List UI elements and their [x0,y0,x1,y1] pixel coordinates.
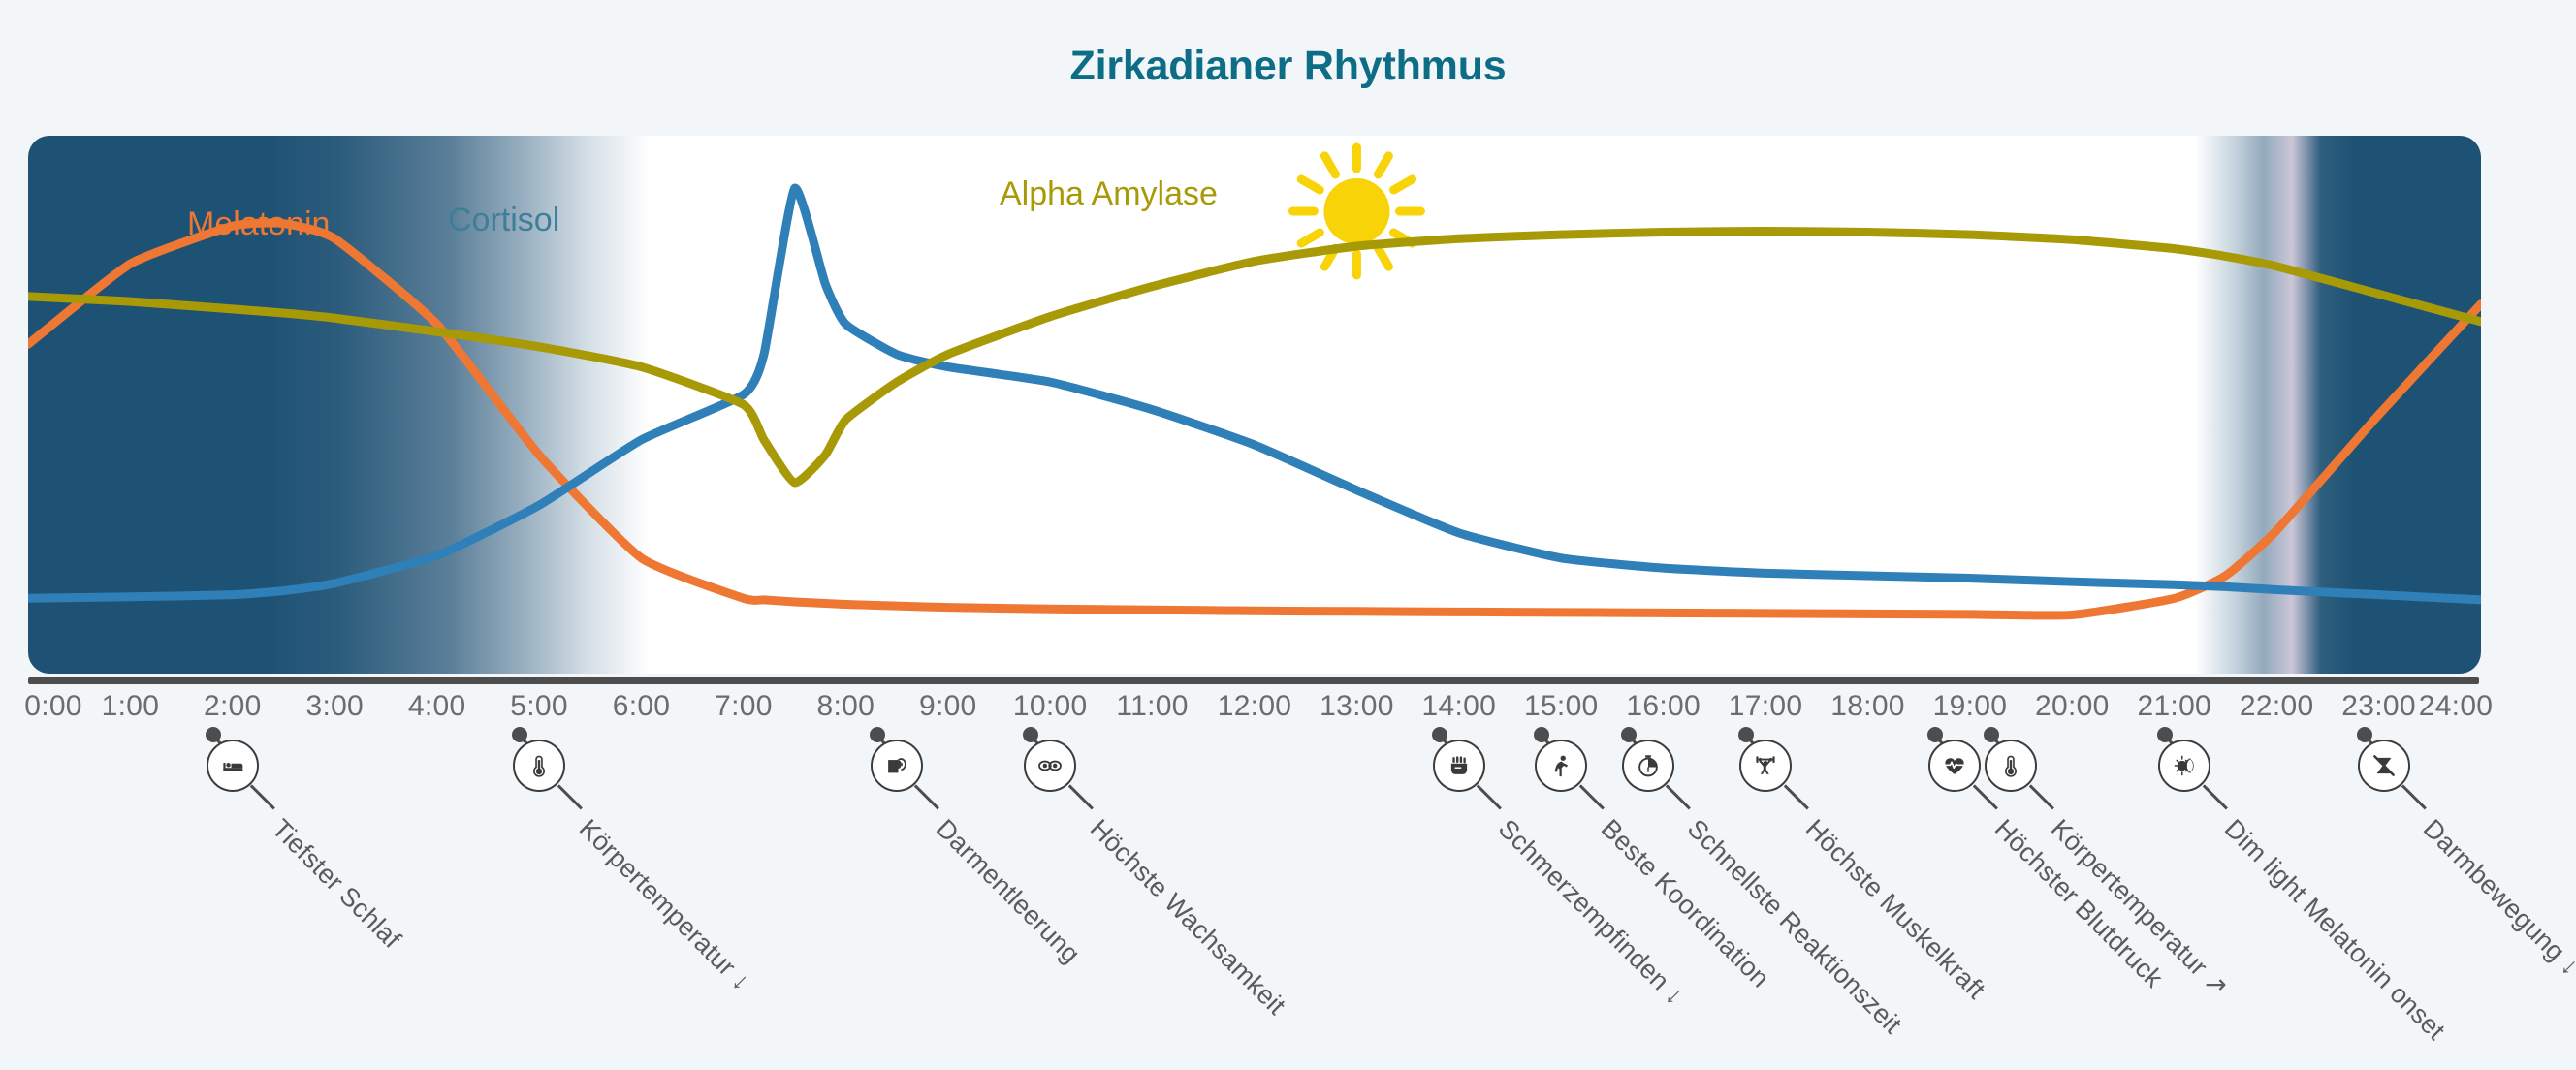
axis-tick-000: 0:00 [24,690,82,723]
annotation-icon-badge[interactable] [1985,740,2037,792]
annotation-dot [1927,727,1943,742]
axis-tick-900: 9:00 [919,690,977,723]
axis-tick-600: 6:00 [613,690,671,723]
annotation-label: Höchste Muskelkraft [1799,814,1991,1006]
annotation-stub-line [2164,735,2186,757]
annotation-icon-badge[interactable] [1928,740,1981,792]
annotation-dot [870,727,885,742]
no-toilet-icon [2372,754,2396,777]
annotation-stub-line [1934,735,1956,757]
annotation-label: Körpertemperatur ↗ [2045,814,2234,1003]
annotation-stub-line [1990,735,2013,757]
annotation-label: Darmentleerung [931,814,1087,970]
annotation-dot [2357,727,2372,742]
axis-tick-2100: 21:00 [2137,690,2211,723]
annotation-stub-line [519,735,541,757]
axis-tick-800: 8:00 [817,690,875,723]
annotation-label: Tiefster Schlaf [266,814,406,955]
curves-layer [28,136,2481,674]
annotation-leader-line [250,785,275,810]
plot-panel [28,136,2481,674]
cortisol-label: Cortisol [448,202,559,239]
annotation-dot [2157,727,2173,742]
axis-tick-1300: 13:00 [1320,690,1394,723]
annotation-label: Dim light Melatonin onset [2218,814,2451,1047]
alpha-amylase-label: Alpha Amylase [1000,175,1218,213]
weightlifter-icon [1754,754,1777,777]
annotation-label: Körpertemperatur ↓ [573,814,756,997]
annotation-dot [1534,727,1549,742]
annotation-leader-line [2029,785,2054,810]
axis-tick-300: 3:00 [305,690,364,723]
annotation-dot [1023,727,1038,742]
thermometer-icon [527,754,551,777]
annotation-dot [1984,727,1999,742]
annotation-leader-line [2401,785,2427,810]
annotation-stub-line [1541,735,1563,757]
axis-tick-1800: 18:00 [1830,690,1905,723]
annotation-stub-line [1745,735,1767,757]
axis-tick-1400: 14:00 [1422,690,1497,723]
annotation-stub-line [1030,735,1052,757]
axis-tick-500: 5:00 [510,690,568,723]
melatonin-label: Melatonin [187,205,330,243]
annotation-leader-line [1579,785,1605,810]
axis-tick-100: 1:00 [102,690,160,723]
annotation-icon-badge[interactable] [1433,740,1485,792]
thermometer-icon [1999,754,2022,777]
annotation-dot [1621,727,1637,742]
annotation-stub-line [2364,735,2386,757]
axis-tick-2000: 20:00 [2035,690,2110,723]
annotation-dot [1738,727,1754,742]
fist-icon [1447,754,1471,777]
annotation-label: Höchste Wachsamkeit [1084,814,1291,1022]
axis-tick-400: 4:00 [408,690,466,723]
time-axis-line [28,677,2479,684]
bed-icon [221,754,244,777]
annotation-icon-badge[interactable] [871,740,923,792]
annotation-label: Darmbewegung ↓ [2417,814,2576,983]
annotation-leader-line [2203,785,2228,810]
stopwatch-icon [1637,754,1660,777]
annotation-label: Höchster Blutdruck [1988,814,2169,994]
axis-tick-200: 2:00 [204,690,262,723]
axis-tick-1900: 19:00 [1933,690,2008,723]
annotation-leader-line [1784,785,1809,810]
axis-tick-2300: 23:00 [2341,690,2416,723]
eyes-icon [1038,754,1062,777]
axis-tick-2400: 24:00 [2419,690,2494,723]
axis-tick-2200: 22:00 [2240,690,2314,723]
axis-tick-1100: 11:00 [1116,690,1188,723]
dim-light-icon [2173,754,2196,777]
toilet-paper-icon [885,754,908,777]
heartbeat-icon [1943,754,1966,777]
axis-tick-1500: 15:00 [1524,690,1599,723]
annotation-leader-line [1973,785,1998,810]
annotation-leader-line [915,785,940,810]
person-icon [1549,754,1573,777]
annotation-dot [1432,727,1447,742]
axis-tick-1700: 17:00 [1729,690,1803,723]
annotation-icon-badge[interactable] [1535,740,1587,792]
annotation-icon-badge[interactable] [2358,740,2410,792]
annotation-icon-badge[interactable] [513,740,565,792]
axis-tick-700: 7:00 [715,690,773,723]
annotation-icon-badge[interactable] [1622,740,1674,792]
axis-tick-1200: 12:00 [1218,690,1292,723]
annotation-icon-badge[interactable] [1739,740,1792,792]
curve-layer [28,188,2481,615]
annotation-stub-line [876,735,899,757]
annotation-dot [206,727,221,742]
moon-icon-night-end [2326,170,2368,253]
annotation-stub-line [212,735,235,757]
page-title: Zirkadianer Rhythmus [0,46,2576,87]
circadian-rhythm-figure: Zirkadianer Rhythmus 0:001:002:003:004:0… [0,0,2576,1070]
annotation-label: Beste Koordination [1595,814,1775,994]
annotation-leader-line [557,785,583,810]
curve-melatonin [28,223,2481,615]
annotation-icon-badge[interactable] [2158,740,2210,792]
annotation-leader-line [1068,785,1094,810]
annotation-stub-line [1628,735,1650,757]
curve-cortisol [28,188,2481,600]
annotation-leader-line [1666,785,1691,810]
annotation-leader-line [1477,785,1502,810]
axis-tick-1600: 16:00 [1626,690,1701,723]
annotation-label: Schmerzempfinden ↓ [1492,814,1690,1012]
annotation-dot [512,727,527,742]
axis-tick-1000: 10:00 [1013,690,1088,723]
annotation-label: Schnellste Reaktionszeit [1681,814,1907,1040]
annotation-stub-line [1439,735,1461,757]
annotation-icon-badge[interactable] [1024,740,1076,792]
annotation-icon-badge[interactable] [207,740,259,792]
